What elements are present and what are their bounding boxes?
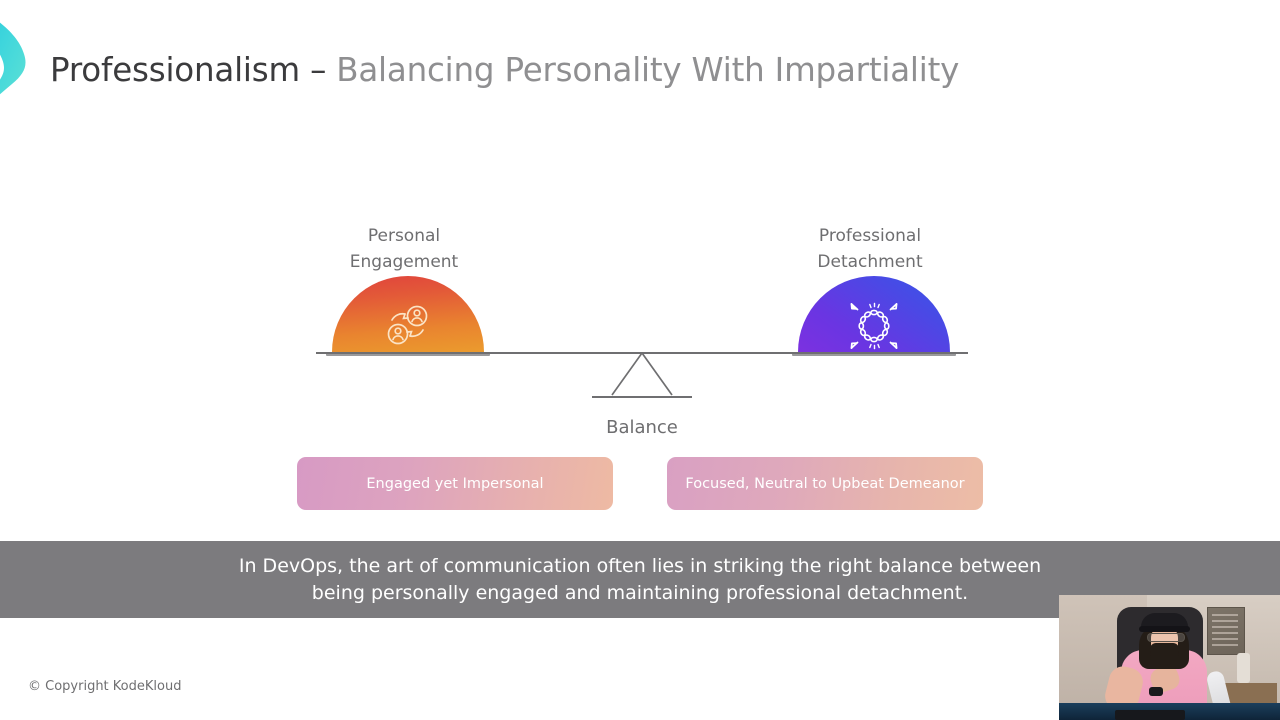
page-title: Professionalism – Balancing Personality … bbox=[50, 52, 959, 89]
right-trait-pill-label: Focused, Neutral to Upbeat Demeanor bbox=[685, 476, 964, 492]
webcam-keyboard bbox=[1115, 710, 1185, 720]
webcam-wall-poster bbox=[1207, 607, 1245, 655]
people-engagement-icon bbox=[381, 300, 435, 350]
presenter-webcam-feed[interactable] bbox=[1059, 595, 1280, 720]
left-pan-dome bbox=[332, 276, 484, 352]
webcam-lamp bbox=[1237, 653, 1250, 683]
right-pan-label: Professional Detachment bbox=[770, 224, 970, 275]
left-pan-label: Personal Engagement bbox=[304, 224, 504, 275]
webcam-presenter-cap-brim bbox=[1139, 626, 1190, 632]
left-pan-label-line1: Personal bbox=[304, 224, 504, 250]
caption-text: In DevOps, the art of communication ofte… bbox=[220, 553, 1060, 605]
balance-label: Balance bbox=[542, 417, 742, 438]
right-trait-pill[interactable]: Focused, Neutral to Upbeat Demeanor bbox=[667, 457, 983, 510]
webcam-presenter-watch bbox=[1149, 687, 1163, 696]
left-pan-label-line2: Engagement bbox=[304, 250, 504, 276]
right-pan-dome bbox=[798, 276, 950, 352]
right-pan-label-line2: Detachment bbox=[770, 250, 970, 276]
left-trait-pill-label: Engaged yet Impersonal bbox=[366, 476, 543, 492]
copyright-text: © Copyright KodeKloud bbox=[28, 679, 181, 694]
title-light-part: Balancing Personality With Impartiality bbox=[336, 51, 959, 89]
webcam-presenter-glasses bbox=[1147, 633, 1185, 642]
left-trait-pill[interactable]: Engaged yet Impersonal bbox=[297, 457, 613, 510]
kodekloud-chevron-logo bbox=[0, 4, 44, 122]
right-pan-label-line1: Professional bbox=[770, 224, 970, 250]
presentation-slide: Professionalism – Balancing Personality … bbox=[0, 0, 1280, 720]
balance-scale-diagram: Personal Engagement Professional Detachm… bbox=[296, 218, 986, 438]
fulcrum-triangle bbox=[592, 352, 692, 396]
fulcrum-base-line bbox=[592, 396, 692, 398]
title-strong-part: Professionalism – bbox=[50, 51, 336, 89]
broken-chain-burst-icon bbox=[847, 300, 901, 350]
